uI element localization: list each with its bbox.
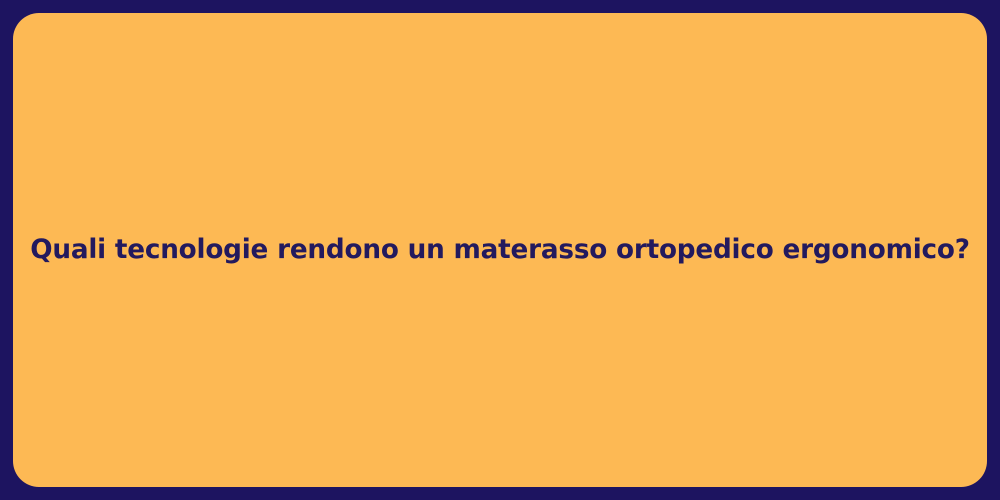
page-title: Quali tecnologie rendono un materasso or… <box>30 235 970 265</box>
card-outer-frame: Quali tecnologie rendono un materasso or… <box>0 0 1000 500</box>
card-content-panel: Quali tecnologie rendono un materasso or… <box>13 13 987 487</box>
